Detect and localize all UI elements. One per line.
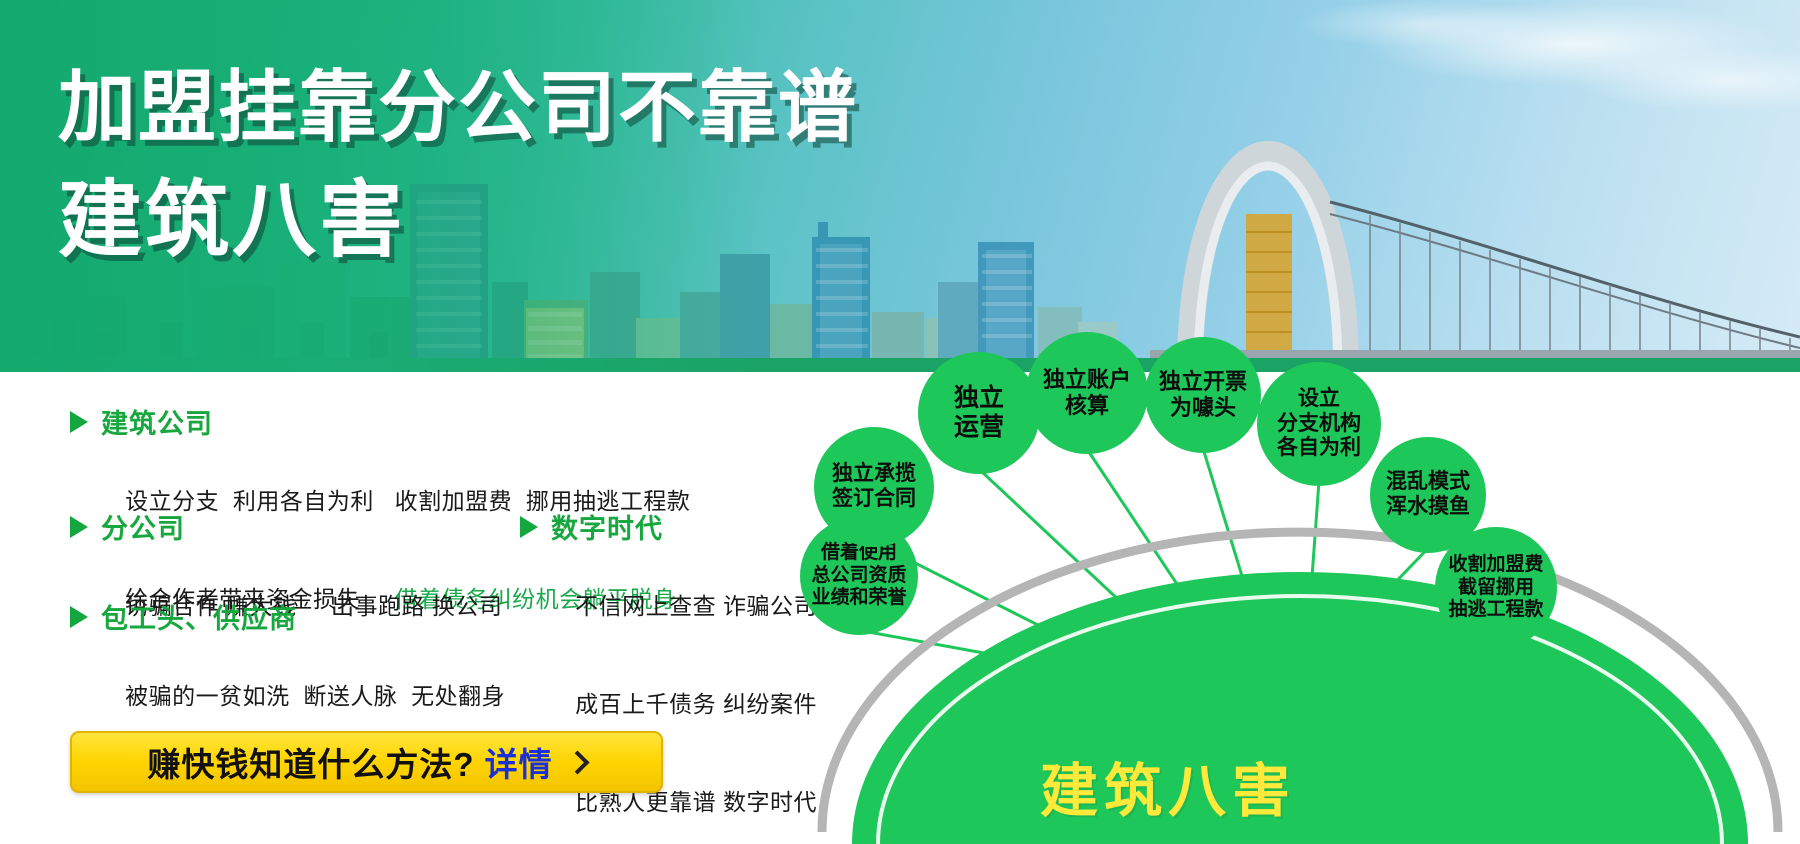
- bubble-text-line: 各自为利: [1277, 436, 1361, 461]
- bubble-2: 独立承揽签订合同: [814, 427, 934, 547]
- bubble-text-line: 独立开票: [1159, 369, 1247, 395]
- bubble-text-line: 为噱头: [1170, 395, 1236, 421]
- connector-line: [1203, 448, 1242, 577]
- bubble-text-line: 独立账户: [1043, 367, 1131, 393]
- triangle-bullet-icon: [70, 516, 88, 538]
- bubble-text-line: 混乱模式: [1386, 470, 1470, 495]
- bubble-text-line: 独立承揽: [832, 462, 916, 487]
- bubble-text-line: 运营: [954, 413, 1004, 443]
- bubble-text-line: 设立: [1298, 387, 1340, 412]
- bubble-text-line: 浑水摸鱼: [1386, 495, 1470, 520]
- poster-root: 加盟挂靠分公司不靠谱 建筑八害 建筑公司 设立分支 利用各自为利 收割加盟费 挪…: [0, 0, 1800, 844]
- section-title: 分公司: [101, 507, 185, 546]
- bubble-8: 收割加盟费截留挪用抽逃工程款: [1435, 527, 1557, 649]
- bubble-text-line: 抽逃工程款: [1448, 599, 1543, 621]
- section-title: 数字时代: [551, 507, 663, 546]
- bubble-text-line: 独立: [954, 384, 1004, 414]
- bubble-6: 设立分支机构各自为利: [1257, 362, 1381, 486]
- section-body-line: 不信网上查查 诈骗公司: [520, 557, 817, 655]
- bubble-text-line: 收割加盟费: [1448, 554, 1543, 576]
- bubble-text-line: 总公司资质: [811, 565, 906, 587]
- bubble-3: 独立运营: [918, 352, 1040, 474]
- bubble-text-line: 截留挪用: [1458, 577, 1534, 599]
- triangle-bullet-icon: [520, 516, 538, 538]
- bubble-text-line: 核算: [1065, 393, 1109, 419]
- bubble-diagram: 建筑八害 借着使用总公司资质业绩和荣誉独立承揽签订合同独立运营独立账户核算独立开…: [800, 332, 1800, 844]
- hero-title-line2: 建筑八害: [58, 172, 406, 269]
- hero-banner: 加盟挂靠分公司不靠谱 建筑八害: [0, 0, 1800, 372]
- chevron-right-icon: [565, 750, 589, 774]
- section-contractor-supplier: 包工头、供应商 被骗的一贫如洗 断送人脉 无处翻身: [70, 597, 505, 745]
- triangle-bullet-icon: [70, 606, 88, 628]
- cta-label: 赚快钱知道什么方法?: [147, 738, 474, 786]
- connector-line: [1087, 449, 1178, 585]
- section-heading: 包工头、供应商: [70, 597, 505, 636]
- section-digital-era: 数字时代 不信网上查查 诈骗公司 成百上千债务 纠纷案件 比熟人更靠谱 数字时代: [520, 507, 817, 844]
- section-heading: 分公司: [70, 507, 502, 546]
- triangle-bullet-icon: [70, 411, 88, 433]
- section-heading: 数字时代: [520, 507, 817, 546]
- cta-details-button[interactable]: 赚快钱知道什么方法? 详情: [70, 731, 663, 793]
- section-title: 包工头、供应商: [101, 597, 297, 636]
- bubble-text-line: 业绩和荣誉: [811, 587, 906, 609]
- section-title: 建筑公司: [101, 402, 213, 441]
- dome-label: 建筑八害: [1040, 744, 1296, 828]
- bubble-text-line: 签订合同: [832, 487, 916, 512]
- line-black: 不信网上查查 诈骗公司: [575, 593, 817, 619]
- bubble-4: 独立账户核算: [1026, 332, 1148, 454]
- cta-link-label: 详情: [485, 738, 553, 786]
- connector-line: [1396, 548, 1428, 581]
- bubble-5: 独立开票为噱头: [1145, 337, 1261, 453]
- line-black: 被骗的一贫如洗 断送人脉 无处翻身: [125, 683, 505, 709]
- section-heading: 建筑公司: [70, 402, 690, 441]
- bubble-text-line: 分支机构: [1277, 412, 1361, 437]
- hero-title-line1: 加盟挂靠分公司不靠谱: [58, 62, 858, 152]
- line-black: 成百上千债务 纠纷案件: [575, 691, 817, 717]
- dome-body: [852, 572, 1748, 844]
